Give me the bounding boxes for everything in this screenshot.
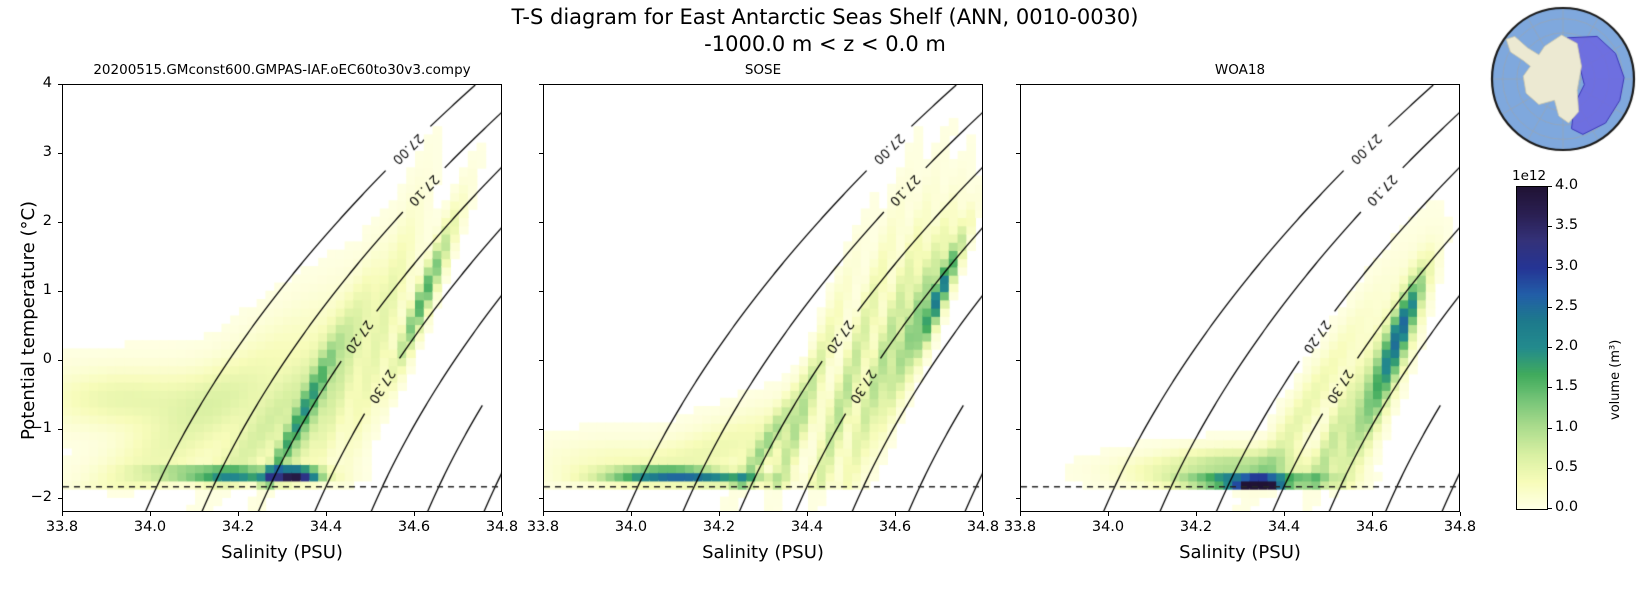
y-tick-mark: [58, 498, 62, 499]
figure-title: T-S diagram for East Antarctic Seas Shel…: [0, 4, 1650, 58]
y-tick-mark: [1016, 360, 1020, 361]
x-tick-label: 33.8: [34, 519, 90, 535]
panel-title-woa18: WOA18: [1020, 62, 1460, 78]
colorbar-tick-mark: [1547, 387, 1552, 388]
x-tick-mark: [895, 512, 896, 516]
colorbar-tick-label: 2.0: [1555, 338, 1578, 354]
x-tick-mark: [1196, 512, 1197, 516]
x-tick-mark: [502, 512, 503, 516]
x-tick-mark: [414, 512, 415, 516]
y-axis-label: Potential temperature (°C): [18, 201, 39, 440]
colorbar-tick-label: 3.0: [1555, 258, 1578, 274]
x-tick-mark: [1108, 512, 1109, 516]
x-tick-label: 34.6: [867, 519, 923, 535]
colorbar-tick-mark: [1547, 508, 1552, 509]
x-tick-mark: [983, 512, 984, 516]
contour-layer-woa18: [1021, 85, 1460, 512]
x-tick-label: 34.2: [691, 519, 747, 535]
x-tick-label: 34.6: [1344, 519, 1400, 535]
y-tick-mark: [1016, 291, 1020, 292]
y-tick-mark: [539, 291, 543, 292]
y-tick-mark: [58, 84, 62, 85]
colorbar-tick-mark: [1547, 428, 1552, 429]
y-tick-mark: [539, 84, 543, 85]
figure-title-line1: T-S diagram for East Antarctic Seas Shel…: [0, 4, 1650, 31]
x-tick-label: 34.2: [210, 519, 266, 535]
x-tick-mark: [543, 512, 544, 516]
x-tick-label: 34.4: [779, 519, 835, 535]
y-tick-mark: [58, 222, 62, 223]
colorbar-tick-mark: [1547, 226, 1552, 227]
y-tick-mark: [539, 498, 543, 499]
y-tick-mark: [58, 153, 62, 154]
panel-title-model: 20200515.GMconst600.GMPAS-IAF.oEC60to30v…: [62, 62, 502, 78]
x-axis-label-woa18: Salinity (PSU): [1020, 542, 1460, 563]
figure-title-line2: -1000.0 m < z < 0.0 m: [0, 31, 1650, 58]
colorbar-label: volume (m³): [1608, 340, 1623, 420]
x-tick-mark: [238, 512, 239, 516]
x-tick-mark: [1020, 512, 1021, 516]
x-tick-mark: [1460, 512, 1461, 516]
x-tick-label: 34.0: [122, 519, 178, 535]
colorbar-tick-label: 4.0: [1555, 177, 1578, 193]
y-tick-label: 4: [12, 75, 52, 91]
colorbar-tick-mark: [1547, 307, 1552, 308]
y-tick-label: −2: [12, 489, 52, 505]
x-tick-mark: [631, 512, 632, 516]
x-tick-label: 34.0: [603, 519, 659, 535]
colorbar-tick-label: 0.5: [1555, 459, 1578, 475]
y-tick-mark: [539, 429, 543, 430]
x-tick-mark: [150, 512, 151, 516]
y-tick-mark: [539, 360, 543, 361]
x-tick-label: 33.8: [992, 519, 1048, 535]
y-tick-mark: [539, 222, 543, 223]
y-tick-label: 1: [12, 282, 52, 298]
x-tick-mark: [62, 512, 63, 516]
colorbar-offset-text: 1e12: [1512, 168, 1546, 184]
x-tick-label: 34.4: [298, 519, 354, 535]
y-tick-mark: [1016, 222, 1020, 223]
y-tick-label: 3: [12, 144, 52, 160]
panel-model[interactable]: [62, 84, 502, 512]
y-tick-mark: [58, 291, 62, 292]
x-tick-label: 34.0: [1080, 519, 1136, 535]
y-tick-mark: [1016, 153, 1020, 154]
y-tick-mark: [1016, 498, 1020, 499]
x-tick-mark: [1372, 512, 1373, 516]
x-tick-mark: [719, 512, 720, 516]
y-tick-mark: [58, 360, 62, 361]
antarctic-region-map[interactable]: [1488, 4, 1638, 154]
colorbar-tick-mark: [1547, 468, 1552, 469]
y-tick-mark: [539, 153, 543, 154]
y-tick-mark: [58, 429, 62, 430]
colorbar-tick-label: 3.5: [1555, 217, 1578, 233]
colorbar-tick-label: 0.0: [1555, 499, 1578, 515]
x-axis-label-model: Salinity (PSU): [62, 542, 502, 563]
colorbar-tick-label: 1.5: [1555, 378, 1578, 394]
colorbar-tick-mark: [1547, 267, 1552, 268]
contour-layer-model: [63, 85, 502, 512]
y-tick-label: 0: [12, 351, 52, 367]
colorbar-tick-label: 2.5: [1555, 298, 1578, 314]
x-tick-label: 33.8: [515, 519, 571, 535]
colorbar-tick-mark: [1547, 347, 1552, 348]
contour-layer-sose: [544, 85, 983, 512]
panel-sose[interactable]: [543, 84, 983, 512]
colorbar-tick-mark: [1547, 186, 1552, 187]
colorbar-tick-label: 1.0: [1555, 419, 1578, 435]
x-tick-label: 34.2: [1168, 519, 1224, 535]
panel-title-sose: SOSE: [543, 62, 983, 78]
y-tick-label: −1: [12, 420, 52, 436]
x-tick-label: 34.6: [386, 519, 442, 535]
y-tick-mark: [1016, 429, 1020, 430]
x-tick-mark: [1284, 512, 1285, 516]
y-tick-mark: [1016, 84, 1020, 85]
x-tick-mark: [326, 512, 327, 516]
colorbar: [1516, 186, 1548, 510]
x-tick-label: 34.8: [1432, 519, 1488, 535]
x-axis-label-sose: Salinity (PSU): [543, 542, 983, 563]
x-tick-label: 34.4: [1256, 519, 1312, 535]
panel-woa18[interactable]: [1020, 84, 1460, 512]
x-tick-mark: [807, 512, 808, 516]
y-tick-label: 2: [12, 213, 52, 229]
